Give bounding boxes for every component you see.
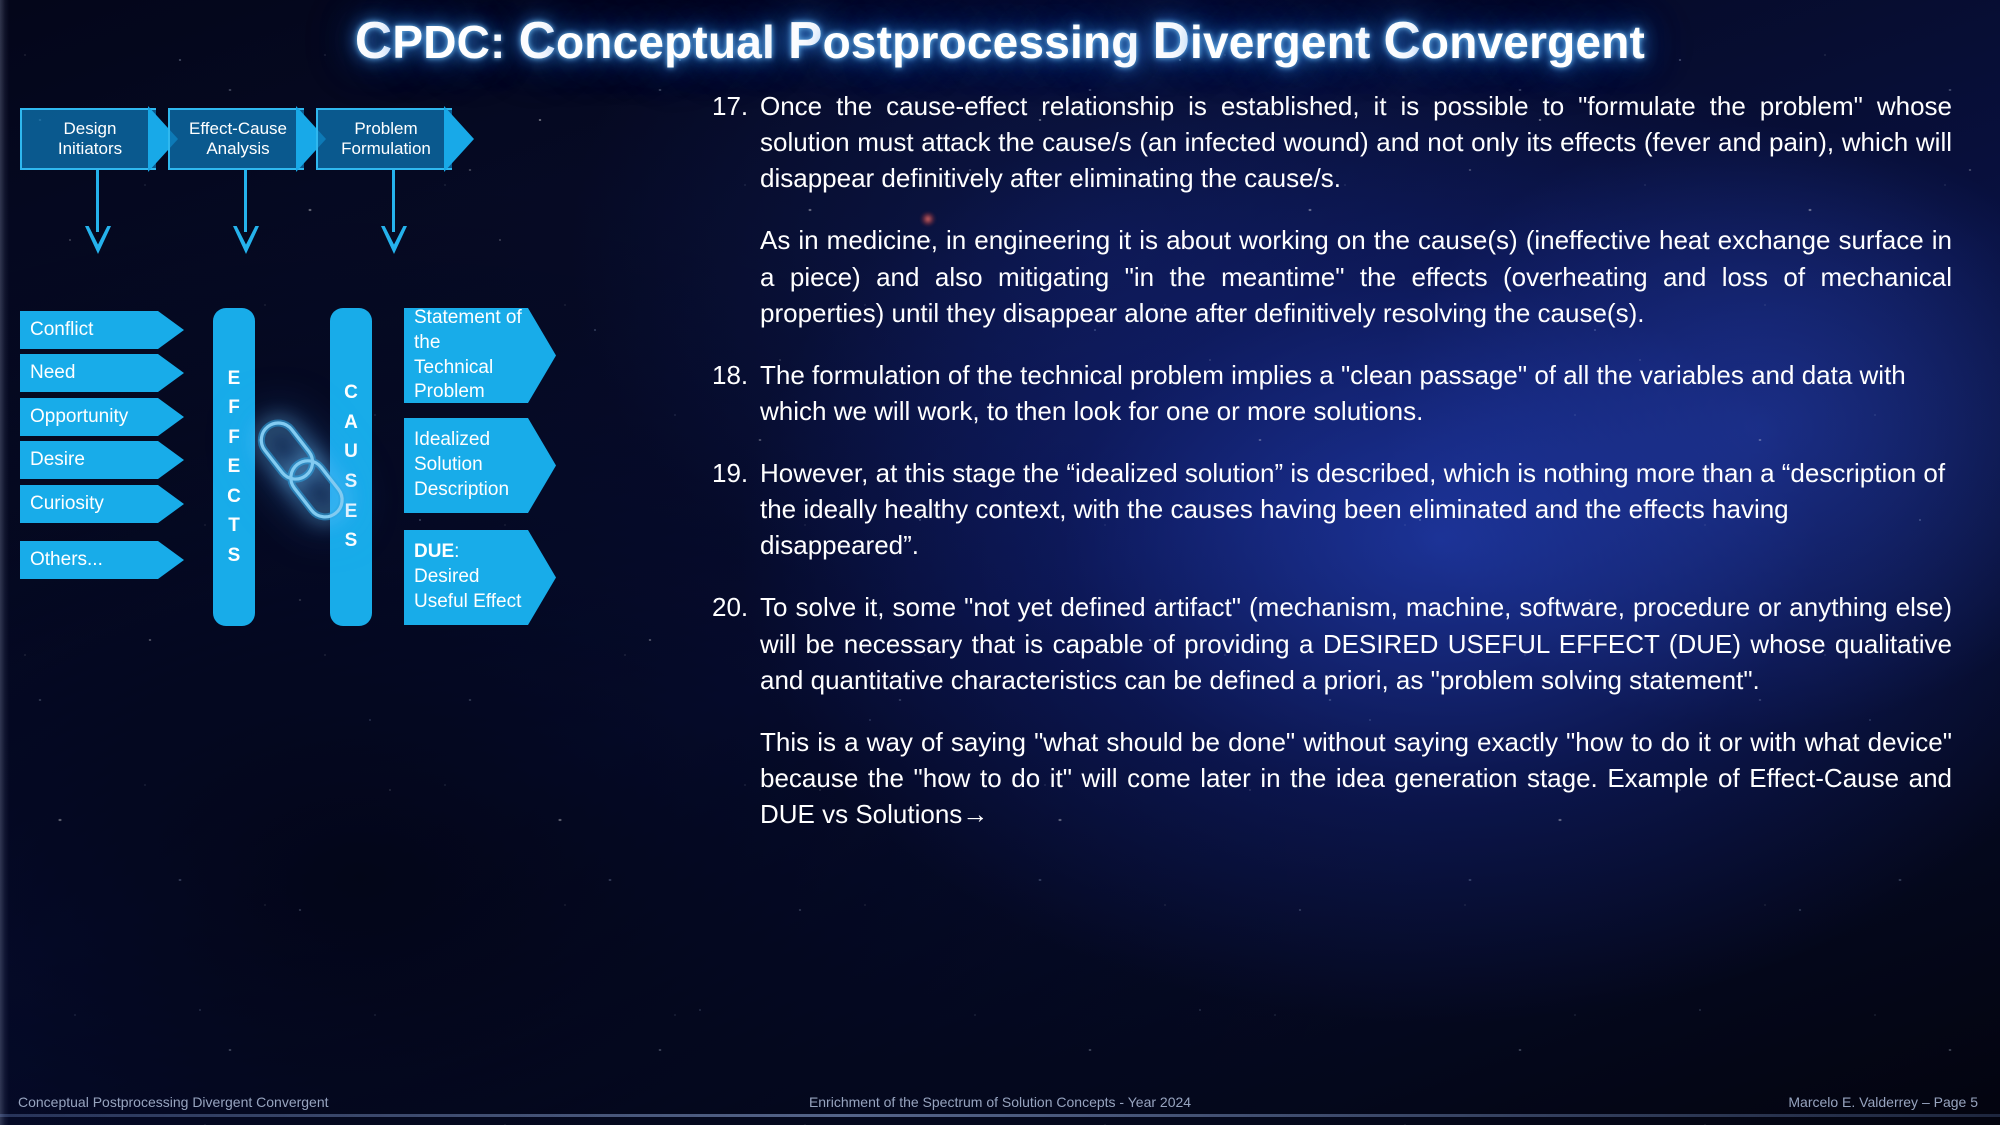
initiator-label: Conflict <box>20 319 93 341</box>
stage-label-line2: Formulation <box>341 139 431 159</box>
arrow-head <box>85 226 111 254</box>
initiator-label: Others... <box>20 549 103 571</box>
stage-chevron-effect-cause-analysis[interactable]: Effect-Cause Analysis <box>168 108 326 170</box>
paragraph-number: 17. <box>712 88 756 124</box>
paragraph-text: To solve it, some "not yet defined artif… <box>760 589 1952 697</box>
initiator-label: Desire <box>20 449 85 471</box>
effects-letter: E <box>228 453 241 481</box>
paragraph-text: Once the cause-effect relationship is es… <box>760 88 1952 196</box>
stage-chevron-label: Design Initiators <box>58 119 140 159</box>
vertical-bar-effects[interactable]: E F F E C T S <box>213 308 255 626</box>
outcome-chevron-statement-of-problem[interactable]: Statement of the Technical Problem <box>404 308 556 403</box>
stage-chevron-label: Effect-Cause Analysis <box>189 119 305 159</box>
initiator-chevron-conflict[interactable]: Conflict <box>20 311 184 349</box>
paragraph-text: As in medicine, in engineering it is abo… <box>760 222 1952 330</box>
initiator-chevron-curiosity[interactable]: Curiosity <box>20 485 184 523</box>
paragraph-18: 18. The formulation of the technical pro… <box>712 357 1952 429</box>
outcome-label: Statement of the Technical Problem <box>414 306 522 405</box>
effects-letter: C <box>227 483 241 511</box>
paragraph-20b: This is a way of saying "what should be … <box>712 724 1952 832</box>
stage-label-line1: Effect-Cause <box>189 119 287 139</box>
causes-letter: S <box>345 527 358 555</box>
body-text-column: 17. Once the cause-effect relationship i… <box>712 88 1952 858</box>
paragraph-19: 19. However, at this stage the “idealize… <box>712 455 1952 563</box>
page-title: CPDC: Conceptual Postprocessing Divergen… <box>355 10 1645 70</box>
paragraph-text: The formulation of the technical problem… <box>760 357 1952 429</box>
stage-label-line2: Analysis <box>189 139 287 159</box>
outcome-chevron-due[interactable]: DUE: Desired Useful Effect <box>404 530 556 625</box>
arrow-shaft <box>244 170 247 232</box>
effects-letter: F <box>228 424 240 452</box>
down-arrow-icon-1 <box>85 170 111 254</box>
title-bar: CPDC: Conceptual Postprocessing Divergen… <box>0 10 2000 70</box>
chain-link-icon <box>252 406 364 524</box>
stage-chevron-design-initiators[interactable]: Design Initiators <box>20 108 178 170</box>
cpdc-process-diagram: Design Initiators Effect-Cause Analysis … <box>0 0 600 1125</box>
arrow-shaft <box>392 170 395 232</box>
arrow-shaft <box>96 170 99 232</box>
initiator-label: Opportunity <box>20 406 128 428</box>
arrow-head <box>381 226 407 254</box>
stage-label-line2: Initiators <box>58 139 122 159</box>
causes-letter: C <box>344 379 358 407</box>
footer-right-text: Marcelo E. Valderrey – Page 5 <box>1788 1094 1978 1110</box>
initiator-chevron-others[interactable]: Others... <box>20 541 184 579</box>
down-arrow-icon-2 <box>233 170 259 254</box>
initiator-chevron-need[interactable]: Need <box>20 354 184 392</box>
stage-chevron-label: Problem Formulation <box>341 119 449 159</box>
effects-letter: S <box>228 542 241 570</box>
paragraph-number: 20. <box>712 589 756 625</box>
stage-chevron-problem-formulation[interactable]: Problem Formulation <box>316 108 474 170</box>
effects-letter: T <box>228 512 240 540</box>
initiator-label: Curiosity <box>20 493 104 515</box>
paragraph-text: This is a way of saying "what should be … <box>760 724 1952 832</box>
outcome-chevron-idealized-solution[interactable]: Idealized Solution Description <box>404 418 556 513</box>
paragraph-17: 17. Once the cause-effect relationship i… <box>712 88 1952 196</box>
paragraph-20: 20. To solve it, some "not yet defined a… <box>712 589 1952 697</box>
effects-letter: F <box>228 394 240 422</box>
slide-canvas: CPDC: Conceptual Postprocessing Divergen… <box>0 0 2000 1125</box>
down-arrow-icon-3 <box>381 170 407 254</box>
initiator-chevron-desire[interactable]: Desire <box>20 441 184 479</box>
paragraph-text: However, at this stage the “idealized so… <box>760 455 1952 563</box>
outcome-bold-prefix: DUE <box>414 541 454 562</box>
slide-footer: Conceptual Postprocessing Divergent Conv… <box>0 1079 2000 1125</box>
stage-label-line1: Problem <box>341 119 431 139</box>
outcome-label-due: DUE: Desired Useful Effect <box>414 540 522 614</box>
initiator-label: Need <box>20 362 75 384</box>
footer-center-text: Enrichment of the Spectrum of Solution C… <box>0 1094 2000 1110</box>
paragraph-number: 19. <box>712 455 756 491</box>
effects-letter: E <box>228 365 241 393</box>
paragraph-number: 18. <box>712 357 756 393</box>
arrow-head <box>233 226 259 254</box>
stage-label-line1: Design <box>58 119 122 139</box>
paragraph-17b: As in medicine, in engineering it is abo… <box>712 222 1952 330</box>
initiator-chevron-opportunity[interactable]: Opportunity <box>20 398 184 436</box>
outcome-label: Idealized Solution Description <box>414 428 522 502</box>
